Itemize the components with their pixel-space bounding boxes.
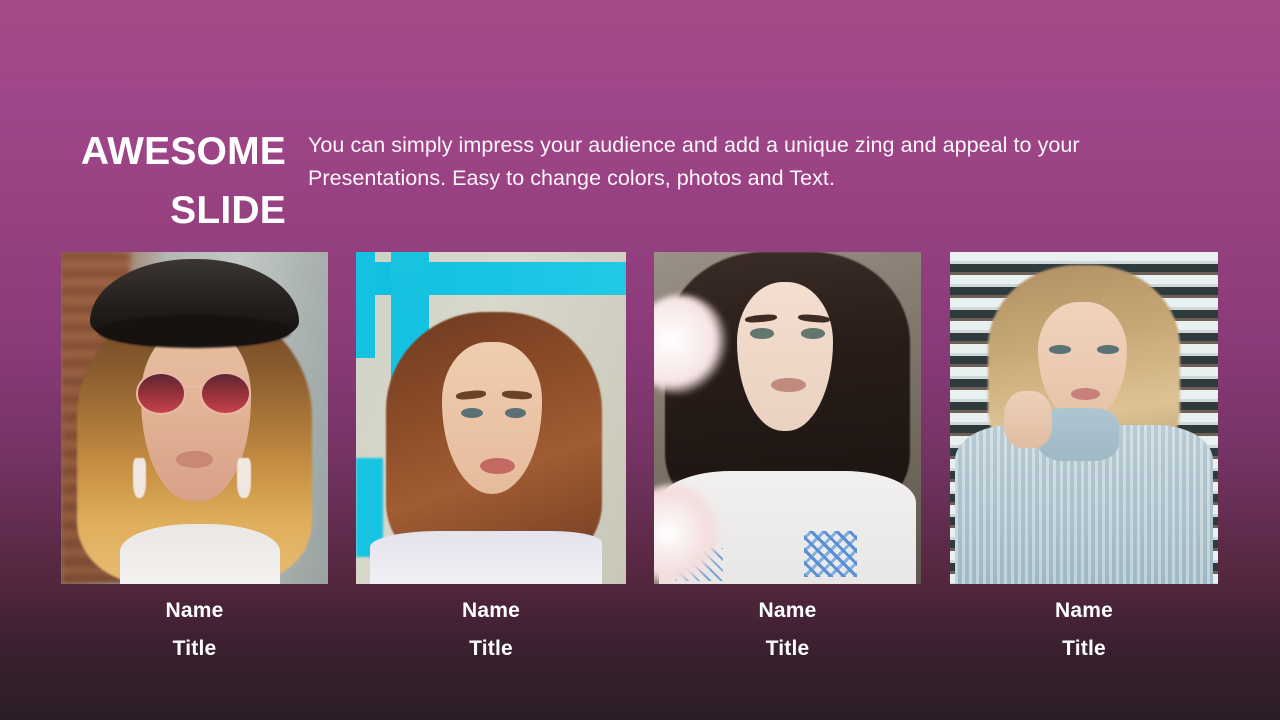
team-member-photo-1 [61, 252, 328, 584]
slide-title-line-1: AWESOME [40, 122, 286, 181]
team-photo-row [0, 252, 1280, 586]
photo-earring-left [133, 458, 146, 498]
team-member-caption-3: Name Title [654, 595, 921, 665]
photo-embroidery-right [804, 531, 857, 577]
photo-sunglass-right [200, 372, 251, 415]
team-member-card-3[interactable] [654, 252, 921, 584]
team-member-title-4: Title [950, 633, 1218, 665]
photo-sunglass-left [136, 372, 187, 415]
team-member-name-1: Name [61, 595, 328, 627]
photo-shirt [370, 531, 602, 584]
presentation-slide: AWESOME SLIDE You can simply impress you… [0, 0, 1280, 720]
team-member-name-2: Name [356, 595, 626, 627]
team-member-caption-2: Name Title [356, 595, 626, 665]
photo-shirt [120, 524, 280, 584]
photo-sunglass-bridge [184, 385, 203, 388]
team-member-photo-2 [356, 252, 626, 584]
team-member-card-1[interactable] [61, 252, 328, 584]
photo-lips [176, 451, 213, 468]
team-caption-row: Name Title Name Title Name Title Name Ti… [0, 595, 1280, 675]
photo-eye-left [461, 408, 483, 418]
team-member-name-3: Name [654, 595, 921, 627]
photo-eye-right [1097, 345, 1118, 354]
team-member-caption-1: Name Title [61, 595, 328, 665]
team-member-title-2: Title [356, 633, 626, 665]
team-member-photo-4 [950, 252, 1218, 584]
team-member-title-3: Title [654, 633, 921, 665]
team-member-name-4: Name [950, 595, 1218, 627]
team-member-card-4[interactable] [950, 252, 1218, 584]
team-member-title-1: Title [61, 633, 328, 665]
photo-hand [1004, 391, 1052, 447]
photo-eye-left [1049, 345, 1070, 354]
slide-title-line-2: SLIDE [40, 181, 286, 240]
photo-eye-left [750, 328, 774, 339]
slide-body-text: You can simply impress your audience and… [308, 129, 1098, 194]
photo-window-frame-edge [356, 252, 375, 358]
team-member-photo-3 [654, 252, 921, 584]
photo-eye-right [505, 408, 527, 418]
photo-cap-brim [98, 315, 290, 348]
photo-earring-right [237, 458, 250, 498]
page-title: AWESOME SLIDE [40, 122, 286, 241]
slide-header: AWESOME SLIDE You can simply impress you… [0, 122, 1280, 232]
photo-eye-right [801, 328, 825, 339]
team-member-card-2[interactable] [356, 252, 626, 584]
photo-lips [1071, 388, 1100, 400]
team-member-caption-4: Name Title [950, 595, 1218, 665]
